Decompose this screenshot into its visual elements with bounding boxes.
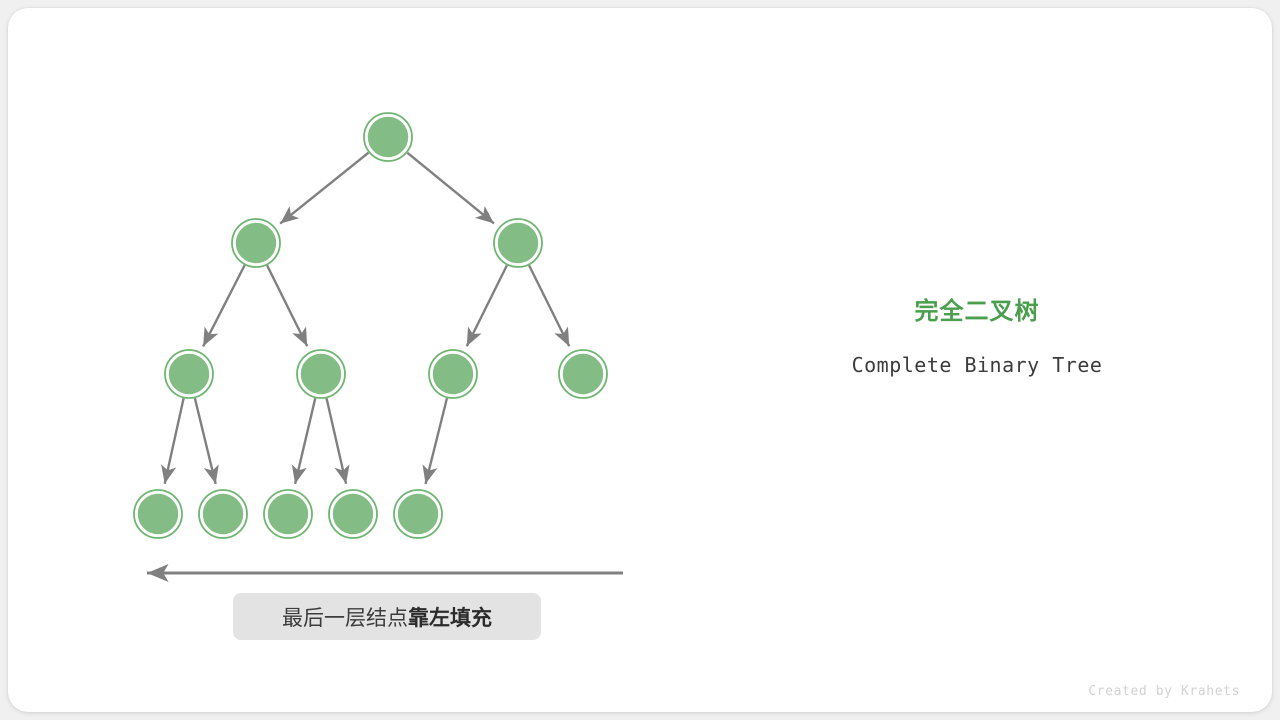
tree-node-body — [332, 493, 374, 535]
tree-edge — [295, 398, 315, 484]
fill-rule-note-text: 最后一层结点靠左填充 — [282, 602, 492, 632]
caption-subtitle: Complete Binary Tree — [836, 327, 1118, 377]
tree-node — [134, 490, 182, 538]
caption-title: 完全二叉树 — [836, 298, 1118, 327]
tree-node-body — [202, 493, 244, 535]
tree-node-body — [367, 116, 409, 158]
tree-node — [559, 350, 607, 398]
tree-node-body — [137, 493, 179, 535]
caption-block: 完全二叉树 Complete Binary Tree — [836, 298, 1118, 377]
tree-edge — [407, 153, 494, 224]
tree-node-body — [267, 493, 309, 535]
credit-line: Created by Krahets — [8, 684, 1240, 699]
tree-node — [264, 490, 312, 538]
tree-node-body — [432, 353, 474, 395]
tree-node — [199, 490, 247, 538]
tree-edge — [280, 153, 368, 224]
note-bold-part: 靠左填充 — [408, 607, 492, 630]
tree-node — [329, 490, 377, 538]
tree-node-body — [168, 353, 210, 395]
tree-edge — [327, 398, 347, 483]
tree-node — [165, 350, 213, 398]
note-normal-part: 最后一层结点 — [282, 607, 408, 630]
tree-node-body — [562, 353, 604, 395]
tree-node-layer — [134, 113, 607, 538]
tree-node-body — [397, 493, 439, 535]
tree-edge — [529, 265, 569, 346]
tree-edge — [165, 398, 184, 483]
tree-node-body — [300, 353, 342, 395]
tree-node-body — [497, 222, 539, 264]
diagram-card: 完全二叉树 Complete Binary Tree 最后一层结点靠左填充 Cr… — [8, 8, 1272, 712]
tree-node — [364, 113, 412, 161]
tree-edge — [195, 398, 216, 484]
tree-node — [429, 350, 477, 398]
tree-edge-layer — [165, 153, 570, 484]
tree-node-body — [235, 222, 277, 264]
tree-edge — [426, 398, 447, 484]
tree-node — [494, 219, 542, 267]
tree-edge — [203, 265, 245, 346]
tree-node — [394, 490, 442, 538]
tree-node — [232, 219, 280, 267]
fill-rule-note: 最后一层结点靠左填充 — [233, 593, 541, 640]
tree-edge — [267, 265, 307, 346]
tree-node — [297, 350, 345, 398]
tree-edge — [467, 265, 507, 346]
screenshot-stage: 完全二叉树 Complete Binary Tree 最后一层结点靠左填充 Cr… — [0, 0, 1280, 720]
